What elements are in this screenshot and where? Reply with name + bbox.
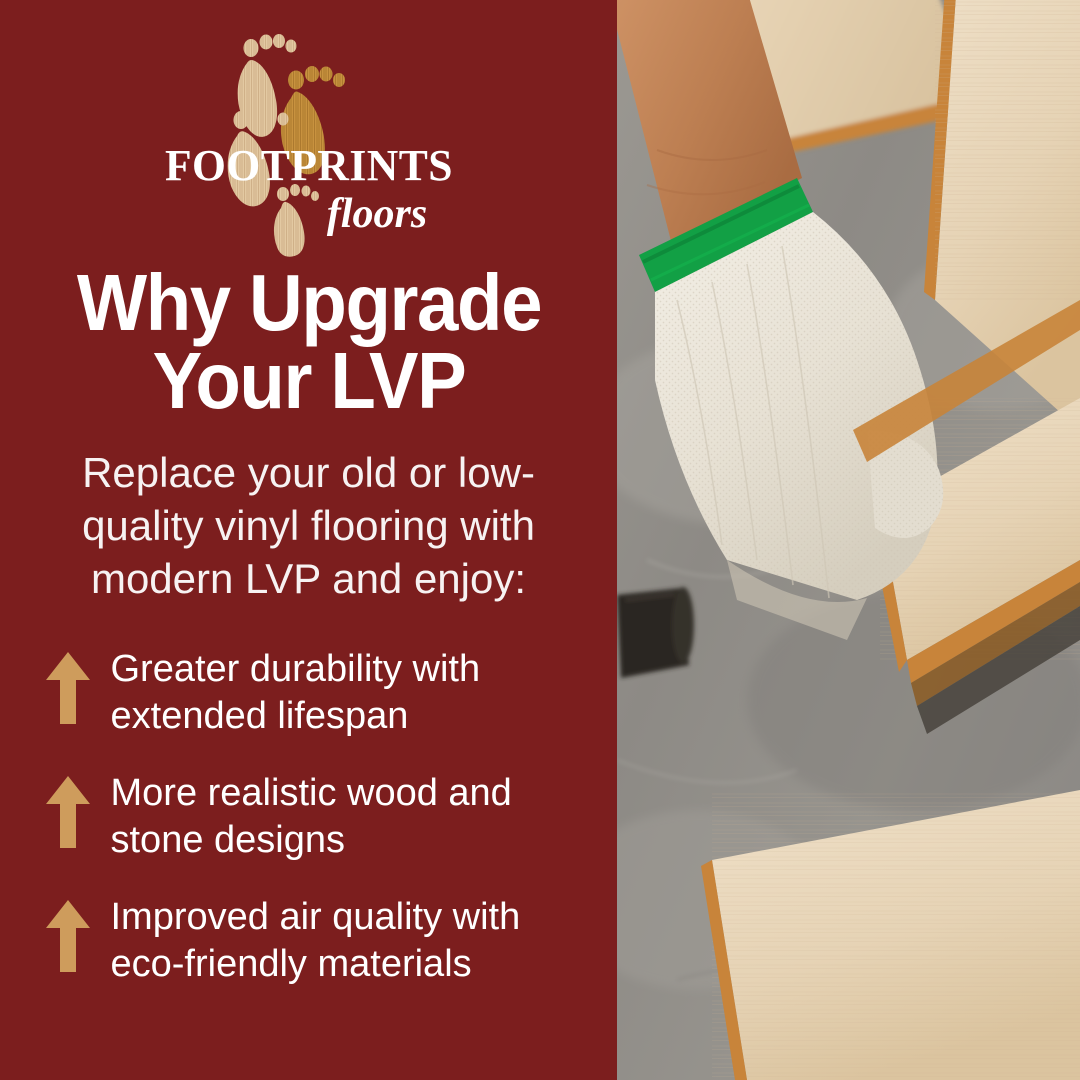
list-item: Greater durability with extended lifespa…: [45, 644, 589, 740]
up-arrow-icon: [45, 898, 91, 974]
up-arrow-icon: [45, 774, 91, 850]
benefit-text: Greater durability with extended lifespa…: [111, 644, 589, 740]
headline-line-2: Your LVP: [30, 342, 588, 420]
subheading: Replace your old or low-quality vinyl fl…: [44, 447, 574, 606]
rubber-mallet: [617, 587, 694, 678]
left-content-panel: FOOTPRINTS floors Why Upgrade Your LVP R…: [0, 0, 617, 1080]
benefit-text: More realistic wood and stone designs: [111, 768, 589, 864]
flooring-installation-photo: [617, 0, 1080, 1080]
list-item: More realistic wood and stone designs: [45, 768, 589, 864]
brand-logo: FOOTPRINTS floors: [159, 18, 459, 258]
list-item: Improved air quality with eco-friendly m…: [45, 892, 589, 988]
foreground-plank-bottom: [701, 790, 1080, 1080]
logo-wordmark-primary: FOOTPRINTS: [164, 142, 452, 190]
promotional-poster: FOOTPRINTS floors Why Upgrade Your LVP R…: [0, 0, 1080, 1080]
headline: Why Upgrade Your LVP: [30, 264, 588, 421]
footprint-shape-4: [273, 184, 318, 257]
logo-wordmark-secondary: floors: [326, 191, 426, 237]
up-arrow-icon: [45, 650, 91, 726]
headline-line-1: Why Upgrade: [30, 264, 588, 342]
benefit-text: Improved air quality with eco-friendly m…: [111, 892, 589, 988]
benefits-list: Greater durability with extended lifespa…: [29, 644, 589, 989]
